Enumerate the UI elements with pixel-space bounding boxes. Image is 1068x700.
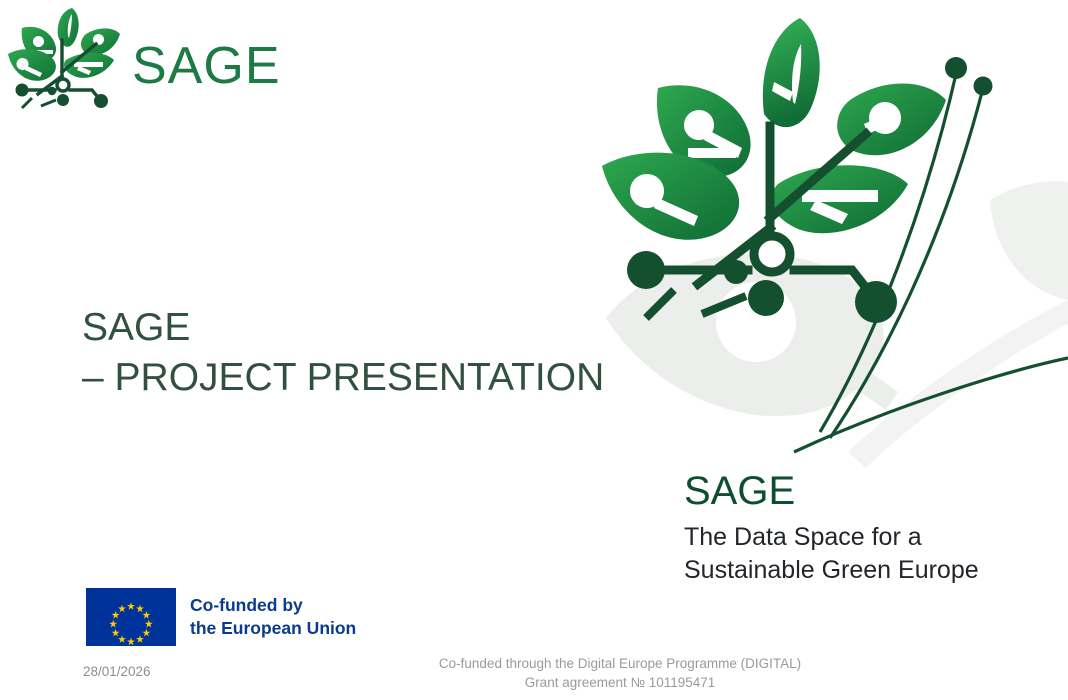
title-line-1: SAGE: [82, 303, 602, 353]
funding-note-line-2: Grant agreement № 101195471: [370, 673, 870, 692]
decor-stem-tips: [945, 57, 993, 96]
slide-date: 28/01/2026: [83, 664, 151, 679]
funding-note: Co-funded through the Digital Europe Pro…: [370, 654, 870, 692]
network-nodes: [627, 251, 897, 323]
decor-curved-stems: [794, 74, 1068, 452]
eu-badge-line-1: Co-funded by: [190, 595, 303, 615]
brand-tagline-line-2: Sustainable Green Europe: [684, 554, 1054, 587]
sage-plant-network-logo-icon: [8, 8, 126, 124]
brand-block: SAGE The Data Space for a Sustainable Gr…: [684, 468, 1054, 587]
presentation-slide: SAGE SAGE – PROJECT PRESENTATION SAGE Th…: [0, 0, 1068, 700]
funding-note-line-1: Co-funded through the Digital Europe Pro…: [370, 654, 870, 673]
watermark-leaf-group: [606, 181, 1068, 468]
eu-badge-text: Co-funded by the European Union: [190, 594, 356, 640]
header-wordmark: SAGE: [132, 40, 281, 92]
eu-flag-icon: [86, 588, 176, 646]
decorative-artwork: [598, 0, 1068, 470]
brand-tagline-line-1: The Data Space for a: [684, 521, 1054, 554]
brand-name: SAGE: [684, 468, 1054, 515]
sage-plant-network-logo-large: [602, 18, 946, 323]
eu-funding-badge: Co-funded by the European Union: [86, 588, 356, 646]
slide-title: SAGE – PROJECT PRESENTATION: [82, 303, 602, 403]
title-line-2: – PROJECT PRESENTATION: [82, 353, 602, 403]
header-logo: SAGE: [8, 8, 268, 124]
eu-badge-line-2: the European Union: [190, 618, 356, 638]
